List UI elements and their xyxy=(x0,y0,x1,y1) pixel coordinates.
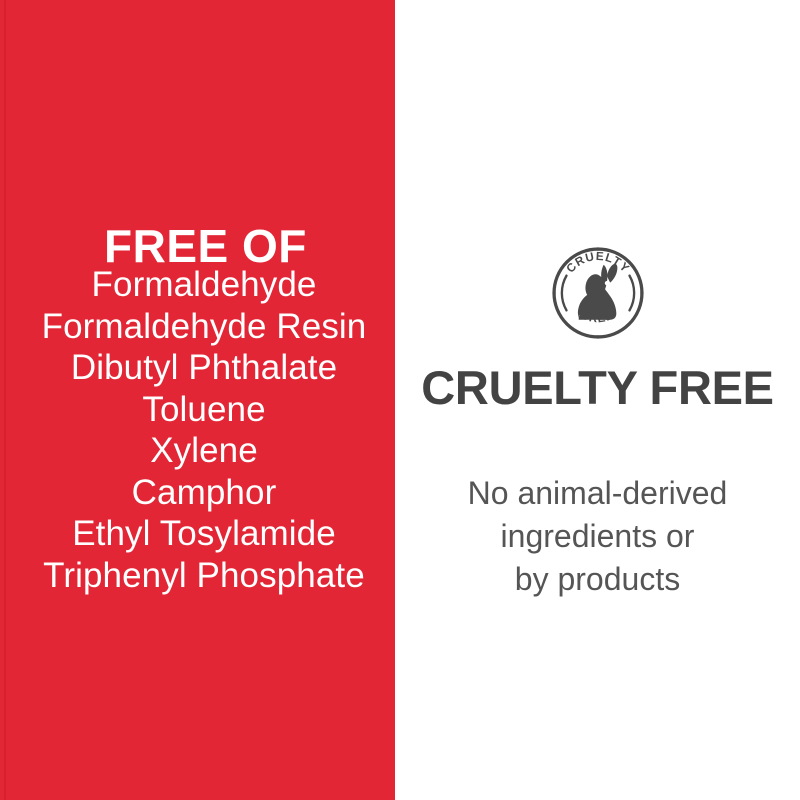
list-item: Formaldehyde xyxy=(0,264,408,306)
cruelty-free-description: No animal-derived ingredients or by prod… xyxy=(468,472,728,601)
list-item: Toluene xyxy=(0,389,408,431)
cruelty-free-heading: CRUELTY FREE xyxy=(421,364,773,411)
description-line: by products xyxy=(468,558,728,601)
cruelty-free-panel: CRUELTY FREE CRUELTY FREE No animal-deri… xyxy=(395,0,800,800)
list-item: Formaldehyde Resin xyxy=(0,306,408,348)
product-claims-poster: FREE OF Formaldehyde Formaldehyde Resin … xyxy=(0,0,800,800)
description-line: ingredients or xyxy=(468,515,728,558)
excluded-ingredients-list: Formaldehyde Formaldehyde Resin Dibutyl … xyxy=(0,264,408,596)
free-of-heading: FREE OF xyxy=(104,223,307,269)
free-of-panel: FREE OF Formaldehyde Formaldehyde Resin … xyxy=(0,0,395,800)
list-item: Ethyl Tosylamide xyxy=(0,513,408,555)
rabbit-silhouette-icon xyxy=(577,264,616,320)
description-line: No animal-derived xyxy=(468,472,728,515)
list-item: Dibutyl Phthalate xyxy=(0,347,408,389)
badge-top-arc-text: CRUELTY xyxy=(563,250,631,276)
svg-text:CRUELTY: CRUELTY xyxy=(563,250,631,276)
list-item: Xylene xyxy=(0,430,408,472)
list-item: Triphenyl Phosphate xyxy=(0,555,408,597)
list-item: Camphor xyxy=(0,472,408,514)
cruelty-free-rabbit-stamp-icon: CRUELTY FREE xyxy=(551,246,645,340)
